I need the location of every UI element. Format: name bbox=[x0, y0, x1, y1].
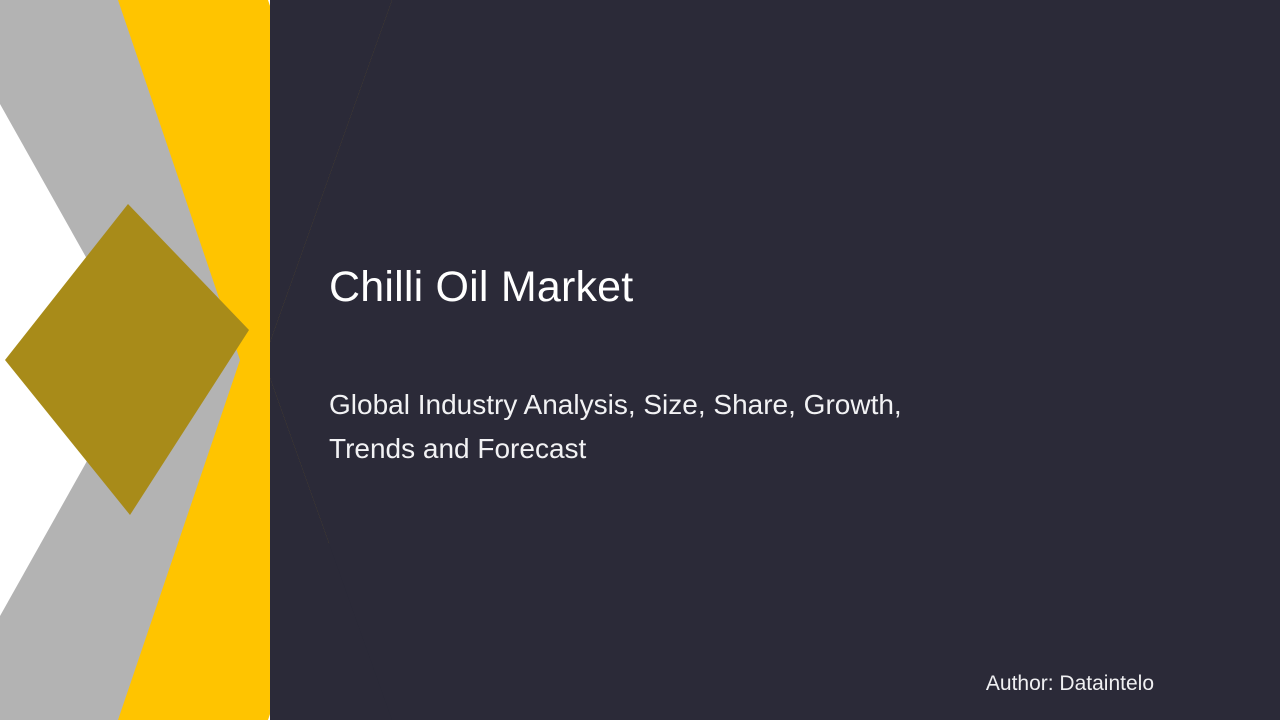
author-credit: Author: Dataintelo bbox=[986, 670, 1154, 698]
slide-subtitle: Global Industry Analysis, Size, Share, G… bbox=[329, 383, 989, 471]
slide-title: Chilli Oil Market bbox=[329, 263, 1109, 312]
title-slide: Chilli Oil Market Global Industry Analys… bbox=[0, 0, 1280, 720]
dark-panel-body bbox=[270, 0, 1280, 720]
decorative-backdrop bbox=[0, 0, 1280, 720]
